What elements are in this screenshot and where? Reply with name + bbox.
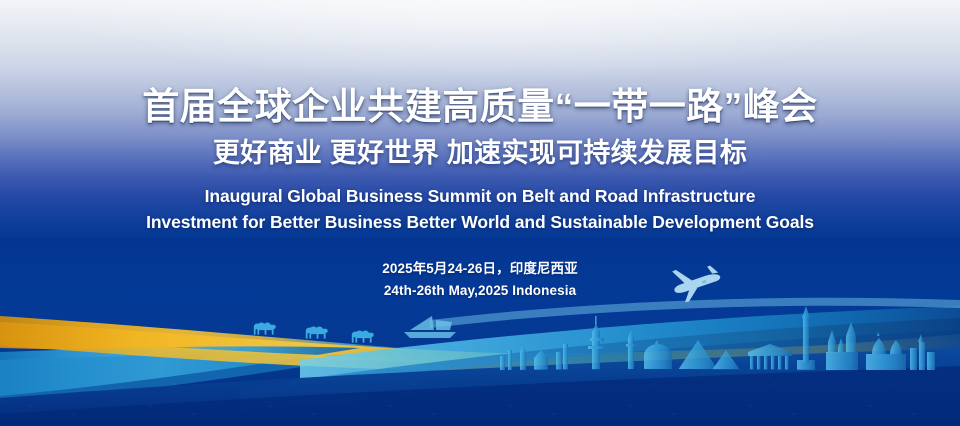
sparkle-texture (0, 350, 960, 426)
title-chinese-line1: 首届全球企业共建高质量“一带一路”峰会 (0, 88, 960, 125)
subtitle-english: Inaugural Global Business Summit on Belt… (0, 183, 960, 236)
date-english: 24th-26th May,2025 Indonesia (0, 280, 960, 302)
event-date-location: 2025年5月24-26日，印度尼西亚 24th-26th May,2025 I… (0, 258, 960, 302)
date-chinese: 2025年5月24-26日，印度尼西亚 (0, 258, 960, 280)
subtitle-english-line2: Investment for Better Business Better Wo… (0, 209, 960, 235)
title-chinese-line2: 更好商业 更好世界 加速实现可持续发展目标 (0, 140, 960, 167)
banner-text-block: 首届全球企业共建高质量“一带一路”峰会 更好商业 更好世界 加速实现可持续发展目… (0, 0, 960, 330)
subtitle-english-line1: Inaugural Global Business Summit on Belt… (0, 183, 960, 209)
conference-banner: 首届全球企业共建高质量“一带一路”峰会 更好商业 更好世界 加速实现可持续发展目… (0, 0, 960, 426)
